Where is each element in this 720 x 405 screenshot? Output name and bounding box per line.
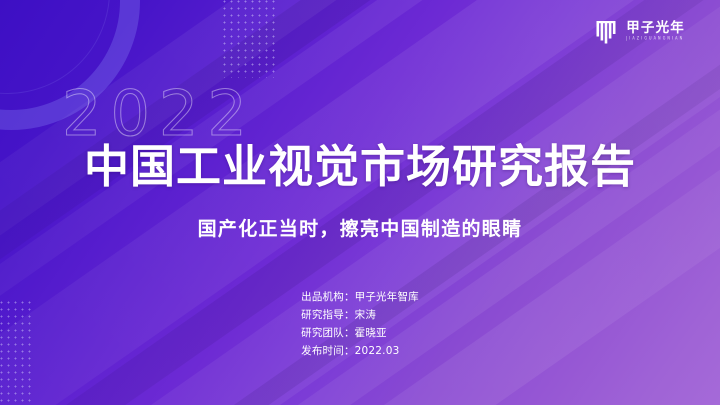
credit-row: 研究指导：宋涛 <box>301 306 419 324</box>
credit-label: 研究团队： <box>301 327 355 339</box>
credits-block: 出品机构：甲子光年智库 研究指导：宋涛 研究团队：霍晓亚 发布时间：2022.0… <box>0 288 720 360</box>
year-watermark: 2022 <box>62 83 256 145</box>
credit-value: 霍晓亚 <box>355 327 387 339</box>
jiazi-bars-logo-icon <box>596 20 619 44</box>
credit-row: 研究团队：霍晓亚 <box>301 324 419 342</box>
logo-text-block: 甲子光年 JIAZIGUANGNIAN <box>626 20 685 41</box>
headline-block: 中国工业视觉市场研究报告 国产化正当时，擦亮中国制造的眼睛 <box>0 142 720 241</box>
credit-value: 宋涛 <box>355 309 376 321</box>
dot-grid-top-decoration <box>221 0 277 78</box>
brand-logo: 甲子光年 JIAZIGUANGNIAN <box>596 20 685 50</box>
credit-row: 发布时间：2022.03 <box>301 342 419 360</box>
logo-wordmark: 甲子光年 <box>626 21 685 35</box>
logo-tagline: JIAZIGUANGNIAN <box>626 37 685 41</box>
page-subtitle: 国产化正当时，擦亮中国制造的眼睛 <box>0 218 720 241</box>
report-cover-slide: 甲子光年 JIAZIGUANGNIAN 2022 中国工业视觉市场研究报告 国产… <box>0 0 720 405</box>
credit-row: 出品机构：甲子光年智库 <box>301 288 419 306</box>
page-title: 中国工业视觉市场研究报告 <box>0 142 720 192</box>
credits-list: 出品机构：甲子光年智库 研究指导：宋涛 研究团队：霍晓亚 发布时间：2022.0… <box>301 288 419 360</box>
credit-value: 甲子光年智库 <box>355 291 419 303</box>
credit-label: 出品机构： <box>301 291 355 303</box>
credit-label: 研究指导： <box>301 309 355 321</box>
credit-value: 2022.03 <box>355 345 400 357</box>
credit-label: 发布时间： <box>301 345 355 357</box>
